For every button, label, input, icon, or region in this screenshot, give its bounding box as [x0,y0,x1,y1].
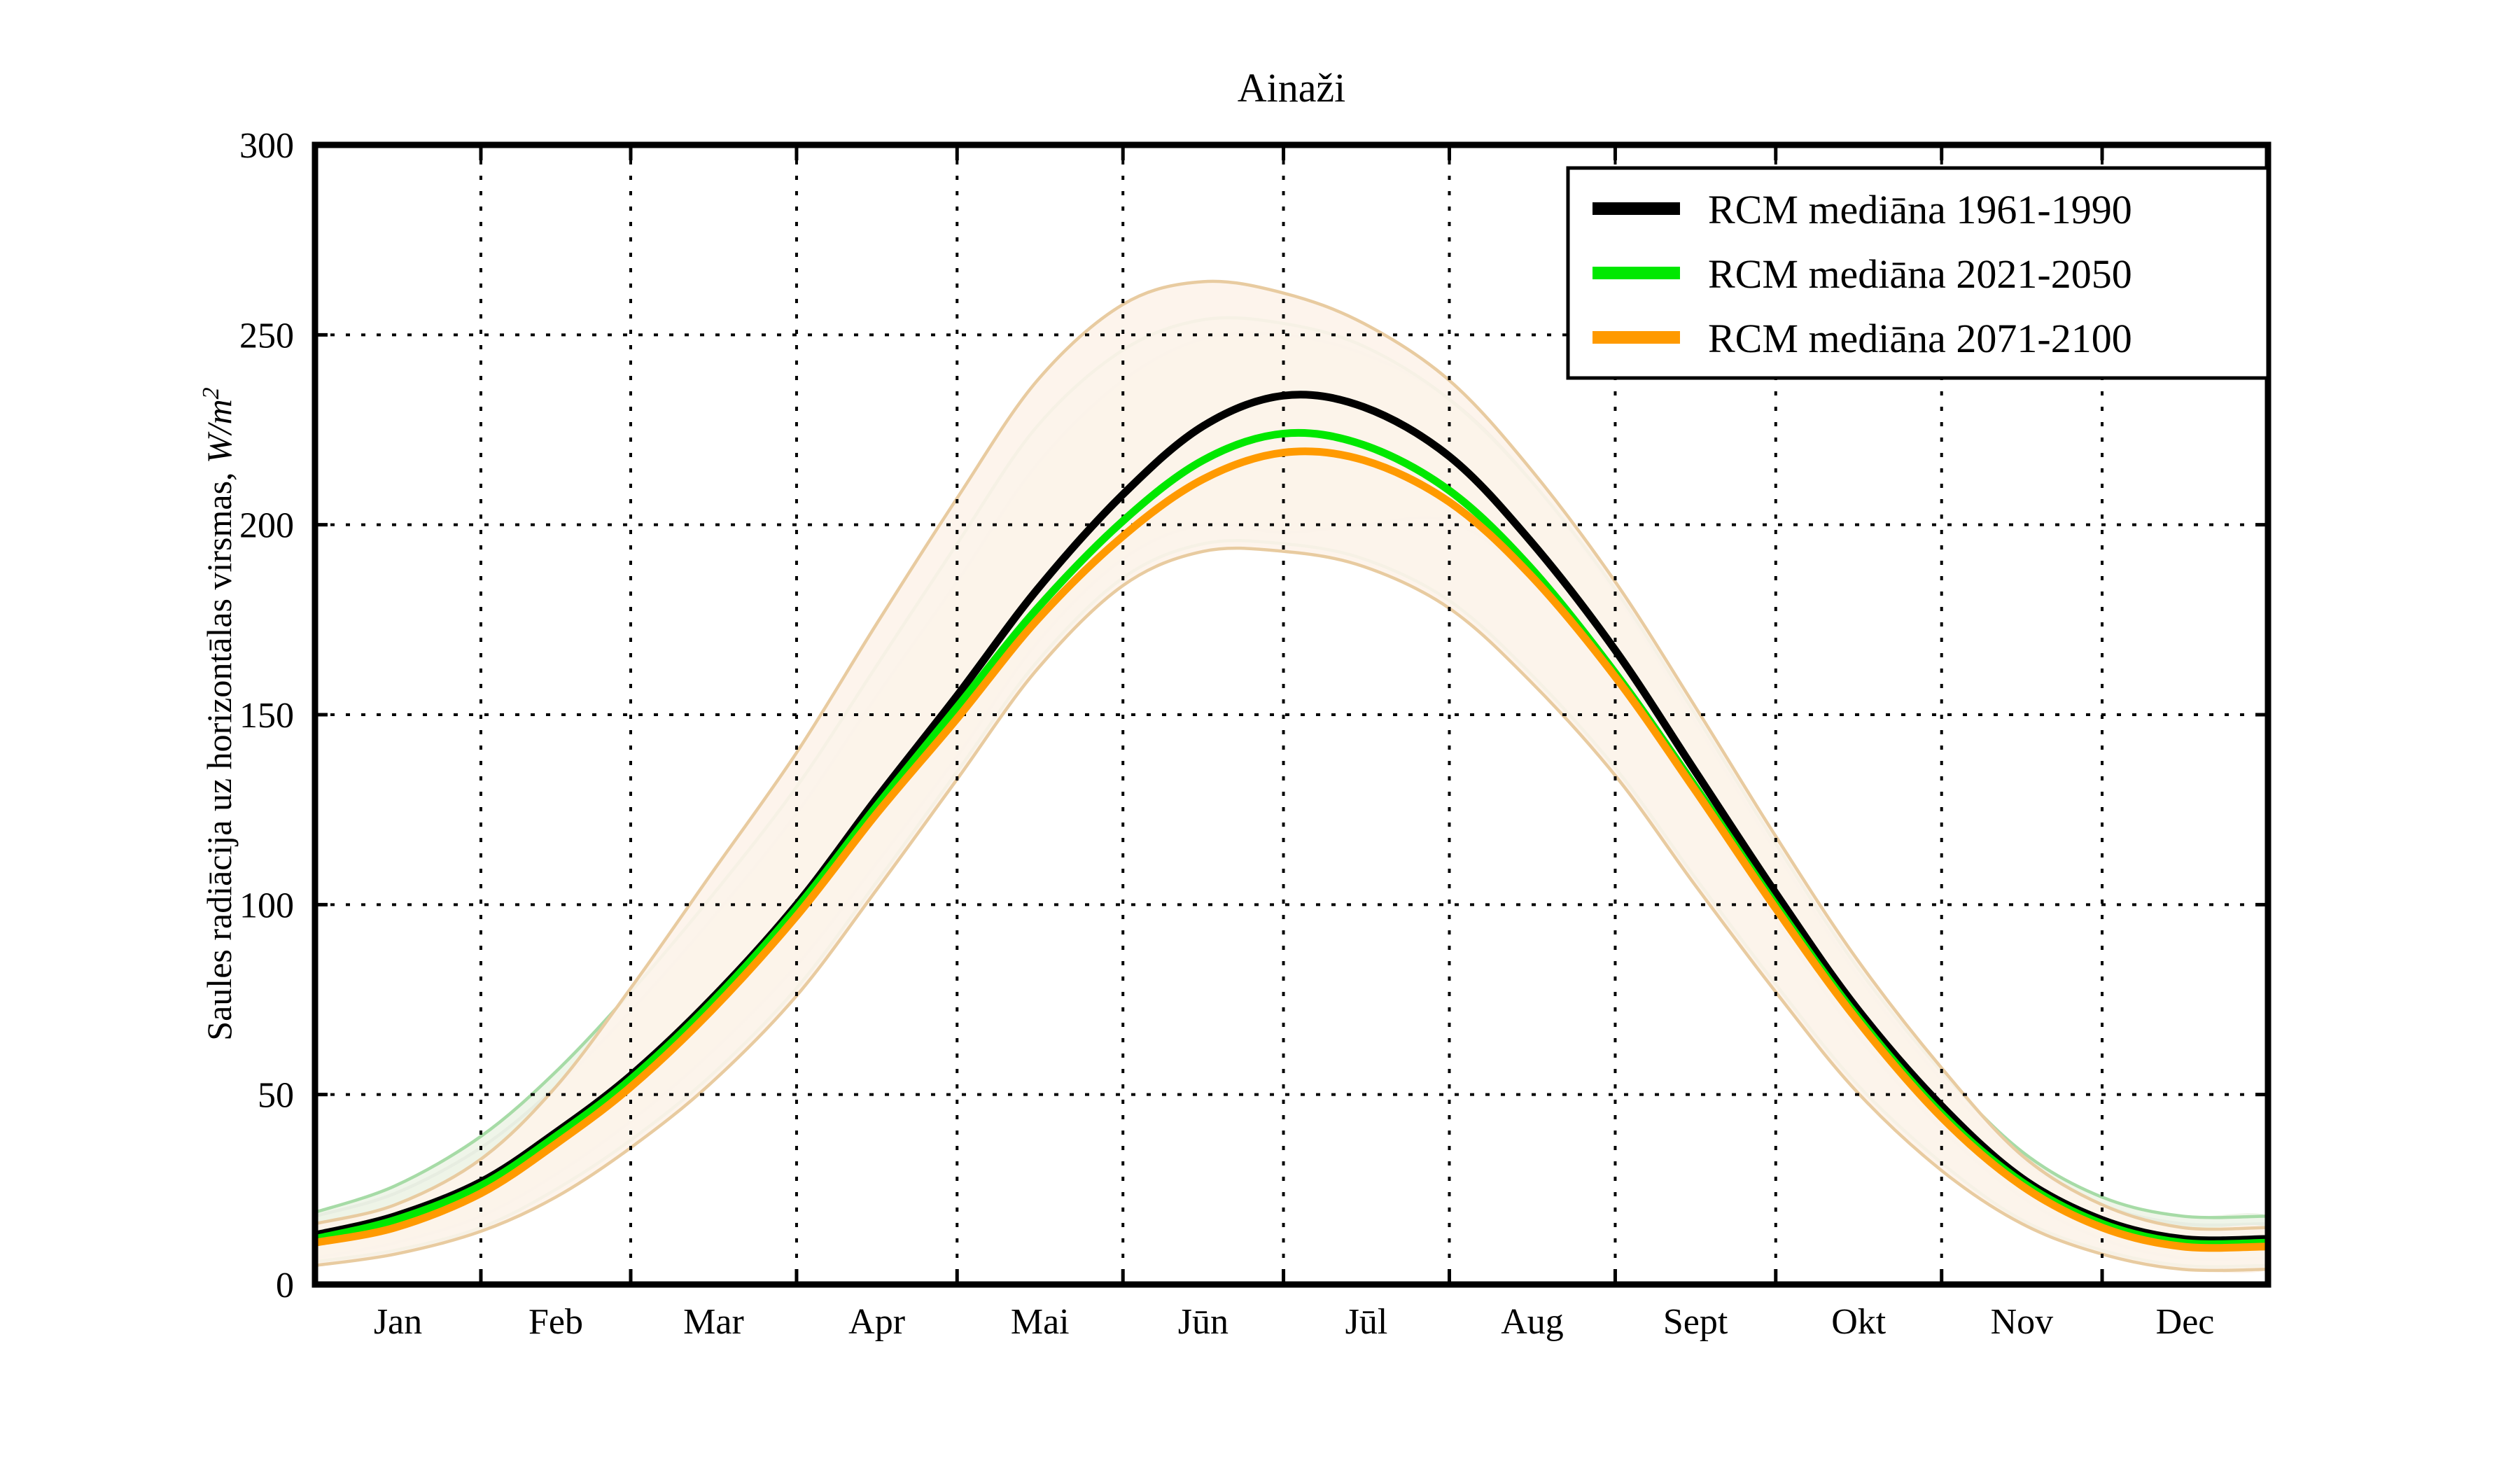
figure-page: 050100150200250300 JanFebMarAprMaiJūnJūl… [0,0,2520,1470]
xtick-label-jan: Jan [374,1302,422,1342]
ytick-label-150: 150 [239,696,294,736]
solar-radiation-chart: 050100150200250300 JanFebMarAprMaiJūnJūl… [0,0,2520,1470]
xtick-label-dec: Dec [2156,1302,2215,1342]
ytick-label-50: 50 [258,1076,294,1116]
y-axis-label-exponent: 2 [198,387,224,399]
chart-canvas: 050100150200250300 JanFebMarAprMaiJūnJūl… [0,0,2520,1470]
y-axis-label-unit: W/m [199,399,239,463]
xtick-label-mar: Mar [683,1302,744,1342]
xtick-label-okt: Okt [1831,1302,1886,1342]
xtick-label-sept: Sept [1663,1302,1728,1342]
ytick-label-200: 200 [239,506,294,546]
xtick-label-apr: Apr [848,1302,905,1342]
ytick-label-100: 100 [239,885,294,925]
xtick-label-jūn: Jūn [1178,1302,1228,1342]
ytick-label-300: 300 [239,126,294,166]
xtick-label-jūl: Jūl [1345,1302,1388,1342]
y-axis-label-prefix: Saules radiācija uz horizontālas virsmas… [199,463,239,1041]
legend-label-1[interactable]: RCM mediāna 2021-2050 [1708,251,2132,297]
chart-legend[interactable]: RCM mediāna 1961-1990RCM mediāna 2021-20… [1568,168,2268,378]
xtick-label-mai: Mai [1011,1302,1070,1342]
y-axis-label-text: Saules radiācija uz horizontālas virsmas… [198,387,239,1040]
y-axis-label: Saules radiācija uz horizontālas virsmas… [198,387,239,1040]
xtick-label-aug: Aug [1501,1302,1564,1342]
xtick-label-feb: Feb [528,1302,583,1342]
page-title: Ainaži [1238,65,1346,111]
ytick-label-0: 0 [276,1266,294,1305]
legend-label-0[interactable]: RCM mediāna 1961-1990 [1708,187,2132,232]
xtick-label-nov: Nov [1991,1302,2054,1342]
legend-label-2[interactable]: RCM mediāna 2071-2100 [1708,316,2132,361]
ytick-label-250: 250 [239,316,294,356]
